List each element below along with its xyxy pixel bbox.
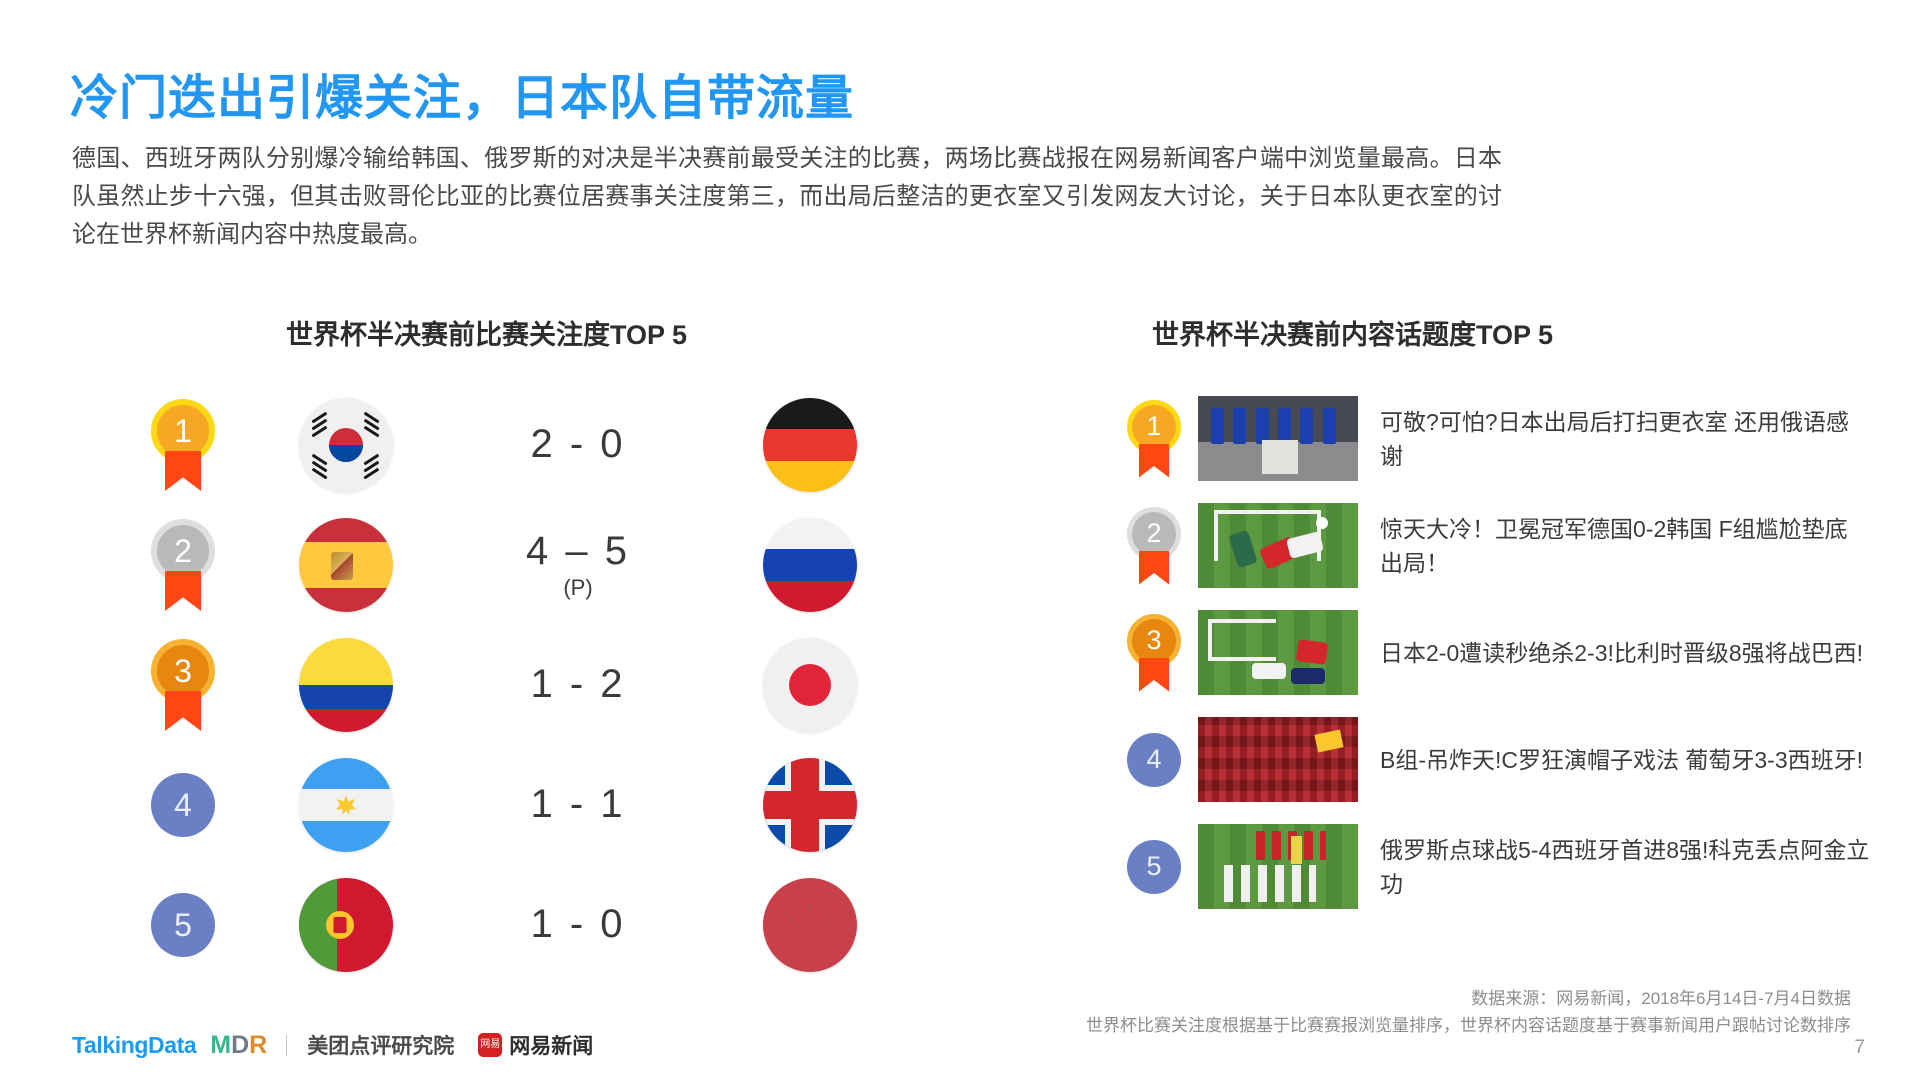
ribbon-icon: [165, 451, 201, 491]
right-section-heading: 世界杯半决赛前内容话题度TOP 5: [1152, 313, 1553, 352]
logo-mdr: M D R: [210, 1031, 266, 1060]
rank-cell: 3: [1110, 614, 1198, 692]
rank-cell: 4: [1110, 733, 1198, 787]
rank-badge-plain: 4: [1127, 733, 1181, 787]
thumbnail-locker-room[interactable]: [1198, 396, 1358, 481]
rank-badge-plain: 4: [151, 773, 215, 837]
armillary-sphere-icon: [326, 911, 354, 939]
topic-title[interactable]: 日本2-0遭读秒绝杀2-3!比利时晋级8强将战巴西!: [1358, 636, 1870, 670]
coat-of-arms-icon: [331, 552, 353, 580]
team-a-cell: [246, 638, 446, 732]
page-number: 7: [1854, 1037, 1865, 1059]
logo-mdr-m: M: [210, 1031, 230, 1060]
left-section-heading: 世界杯半决赛前比赛关注度TOP 5: [286, 313, 687, 352]
medal-badge-gold: 1: [1123, 400, 1185, 478]
team-b-cell: [710, 518, 910, 612]
logo-netease-text: 网易新闻: [509, 1030, 593, 1060]
pentagram-icon: [790, 905, 830, 945]
score-note: (P): [563, 575, 592, 601]
match-row: 1: [120, 385, 910, 505]
list-item[interactable]: 3 日本2-0遭读秒绝杀2-3!比利时晋级8强将战巴西!: [1110, 599, 1870, 706]
method-line: 世界杯比赛关注度根据基于比赛赛报浏览量排序，世界杯内容话题度基于赛事新闻用户跟帖…: [1086, 1012, 1851, 1039]
flag-icon-japan: [763, 638, 857, 732]
team-a-cell: [246, 878, 446, 972]
medal-badge-gold: 1: [146, 399, 220, 491]
flag-icon-germany: [763, 398, 857, 492]
thumbnail-germany-korea-goal[interactable]: [1198, 503, 1358, 588]
ribbon-icon: [1139, 444, 1169, 478]
source-line: 数据来源：网易新闻，2018年6月14日-7月4日数据: [1086, 985, 1851, 1012]
ribbon-icon: [1139, 658, 1169, 692]
match-row: 3 1 - 2: [120, 625, 910, 745]
list-item[interactable]: 4 B组-吊炸天!C罗狂演帽子戏法 葡萄牙3-3西班牙!: [1110, 706, 1870, 813]
rank-cell: 1: [120, 399, 246, 491]
logo-bar: TalkingData M D R 美团点评研究院 网易 网易新闻: [72, 1030, 593, 1060]
match-row: 2 4 – 5 (P): [120, 505, 910, 625]
thumbnail-japan-belgium-match[interactable]: [1198, 610, 1358, 695]
page-title: 冷门迭出引爆关注，日本队自带流量: [70, 58, 854, 128]
match-attention-list: 1: [120, 385, 910, 985]
topic-title[interactable]: B组-吊炸天!C罗狂演帽子戏法 葡萄牙3-3西班牙!: [1358, 743, 1870, 777]
ribbon-icon: [165, 691, 201, 731]
score-value: 1 - 2: [530, 662, 625, 706]
page-description: 德国、西班牙两队分别爆冷输给韩国、俄罗斯的对决是半决赛前最受关注的比赛，两场比赛…: [72, 140, 1502, 254]
logo-meituan-research: 美团点评研究院: [307, 1030, 454, 1060]
team-b-cell: [710, 398, 910, 492]
thumbnail-russia-penalty-celebration[interactable]: [1198, 824, 1358, 909]
rank-badge-plain: 5: [1127, 840, 1181, 894]
flag-icon-south-korea: [299, 398, 393, 492]
team-b-cell: [710, 878, 910, 972]
ribbon-icon: [165, 571, 201, 611]
slide-root: 冷门迭出引爆关注，日本队自带流量 德国、西班牙两队分别爆冷输给韩国、俄罗斯的对决…: [0, 0, 1921, 1080]
medal-badge-silver: 2: [146, 519, 220, 611]
team-a-cell: [246, 758, 446, 852]
score-value: 1 - 0: [530, 902, 625, 946]
logo-mdr-r: R: [249, 1031, 266, 1060]
list-item[interactable]: 1 可敬?可怕?日本出局后打扫更衣室 还用俄语感谢: [1110, 385, 1870, 492]
medal-badge-bronze: 3: [146, 639, 220, 731]
rank-cell: 5: [1110, 840, 1198, 894]
score-cell: 1 - 1: [446, 782, 710, 828]
thumbnail-spain-fans-crowd[interactable]: [1198, 717, 1358, 802]
topic-list: 1 可敬?可怕?日本出局后打扫更衣室 还用俄语感谢 2: [1110, 385, 1870, 920]
score-cell: 1 - 2: [446, 662, 710, 708]
rank-cell: 2: [120, 519, 246, 611]
logo-divider: [286, 1034, 287, 1056]
rank-cell: 1: [1110, 400, 1198, 478]
team-b-cell: [710, 758, 910, 852]
topic-title[interactable]: 可敬?可怕?日本出局后打扫更衣室 还用俄语感谢: [1358, 405, 1870, 473]
match-row: 4 1 - 1: [120, 745, 910, 865]
logo-netease: 网易 网易新闻: [478, 1030, 593, 1060]
score-value: 4 – 5: [526, 529, 630, 573]
flag-icon-colombia: [299, 638, 393, 732]
flag-icon-morocco: [763, 878, 857, 972]
rank-cell: 2: [1110, 507, 1198, 585]
score-value: 1 - 1: [530, 782, 625, 826]
flag-icon-spain: [299, 518, 393, 612]
flag-icon-russia: [763, 518, 857, 612]
flag-icon-iceland: [763, 758, 857, 852]
score-cell: 2 - 0: [446, 422, 710, 468]
flag-icon-portugal: [299, 878, 393, 972]
list-item[interactable]: 2 惊天大冷！卫冕冠军德国0-2韩国 F组尴尬垫底出局！: [1110, 492, 1870, 599]
rank-cell: 3: [120, 639, 246, 731]
match-row: 5 1 - 0: [120, 865, 910, 985]
list-item[interactable]: 5 俄罗斯点球战5-4西班牙首进8强!科克丢点阿金立功: [1110, 813, 1870, 920]
score-value: 2 - 0: [530, 422, 625, 466]
logo-talkingdata: TalkingData: [72, 1032, 196, 1059]
source-note: 数据来源：网易新闻，2018年6月14日-7月4日数据 世界杯比赛关注度根据基于…: [1086, 985, 1851, 1039]
score-cell: 1 - 0: [446, 902, 710, 948]
medal-badge-bronze: 3: [1123, 614, 1185, 692]
topic-title[interactable]: 惊天大冷！卫冕冠军德国0-2韩国 F组尴尬垫底出局！: [1358, 512, 1870, 580]
flag-icon-argentina: [299, 758, 393, 852]
team-b-cell: [710, 638, 910, 732]
medal-badge-silver: 2: [1123, 507, 1185, 585]
rank-cell: 4: [120, 773, 246, 837]
ribbon-icon: [1139, 551, 1169, 585]
team-a-cell: [246, 518, 446, 612]
topic-title[interactable]: 俄罗斯点球战5-4西班牙首进8强!科克丢点阿金立功: [1358, 833, 1870, 901]
rank-cell: 5: [120, 893, 246, 957]
logo-mdr-d: D: [231, 1031, 248, 1060]
team-a-cell: [246, 398, 446, 492]
sun-disc-icon: [789, 664, 831, 706]
netease-badge-icon: 网易: [478, 1033, 502, 1057]
taeguk-icon: [329, 428, 363, 462]
rank-badge-plain: 5: [151, 893, 215, 957]
score-cell: 4 – 5 (P): [446, 529, 710, 601]
